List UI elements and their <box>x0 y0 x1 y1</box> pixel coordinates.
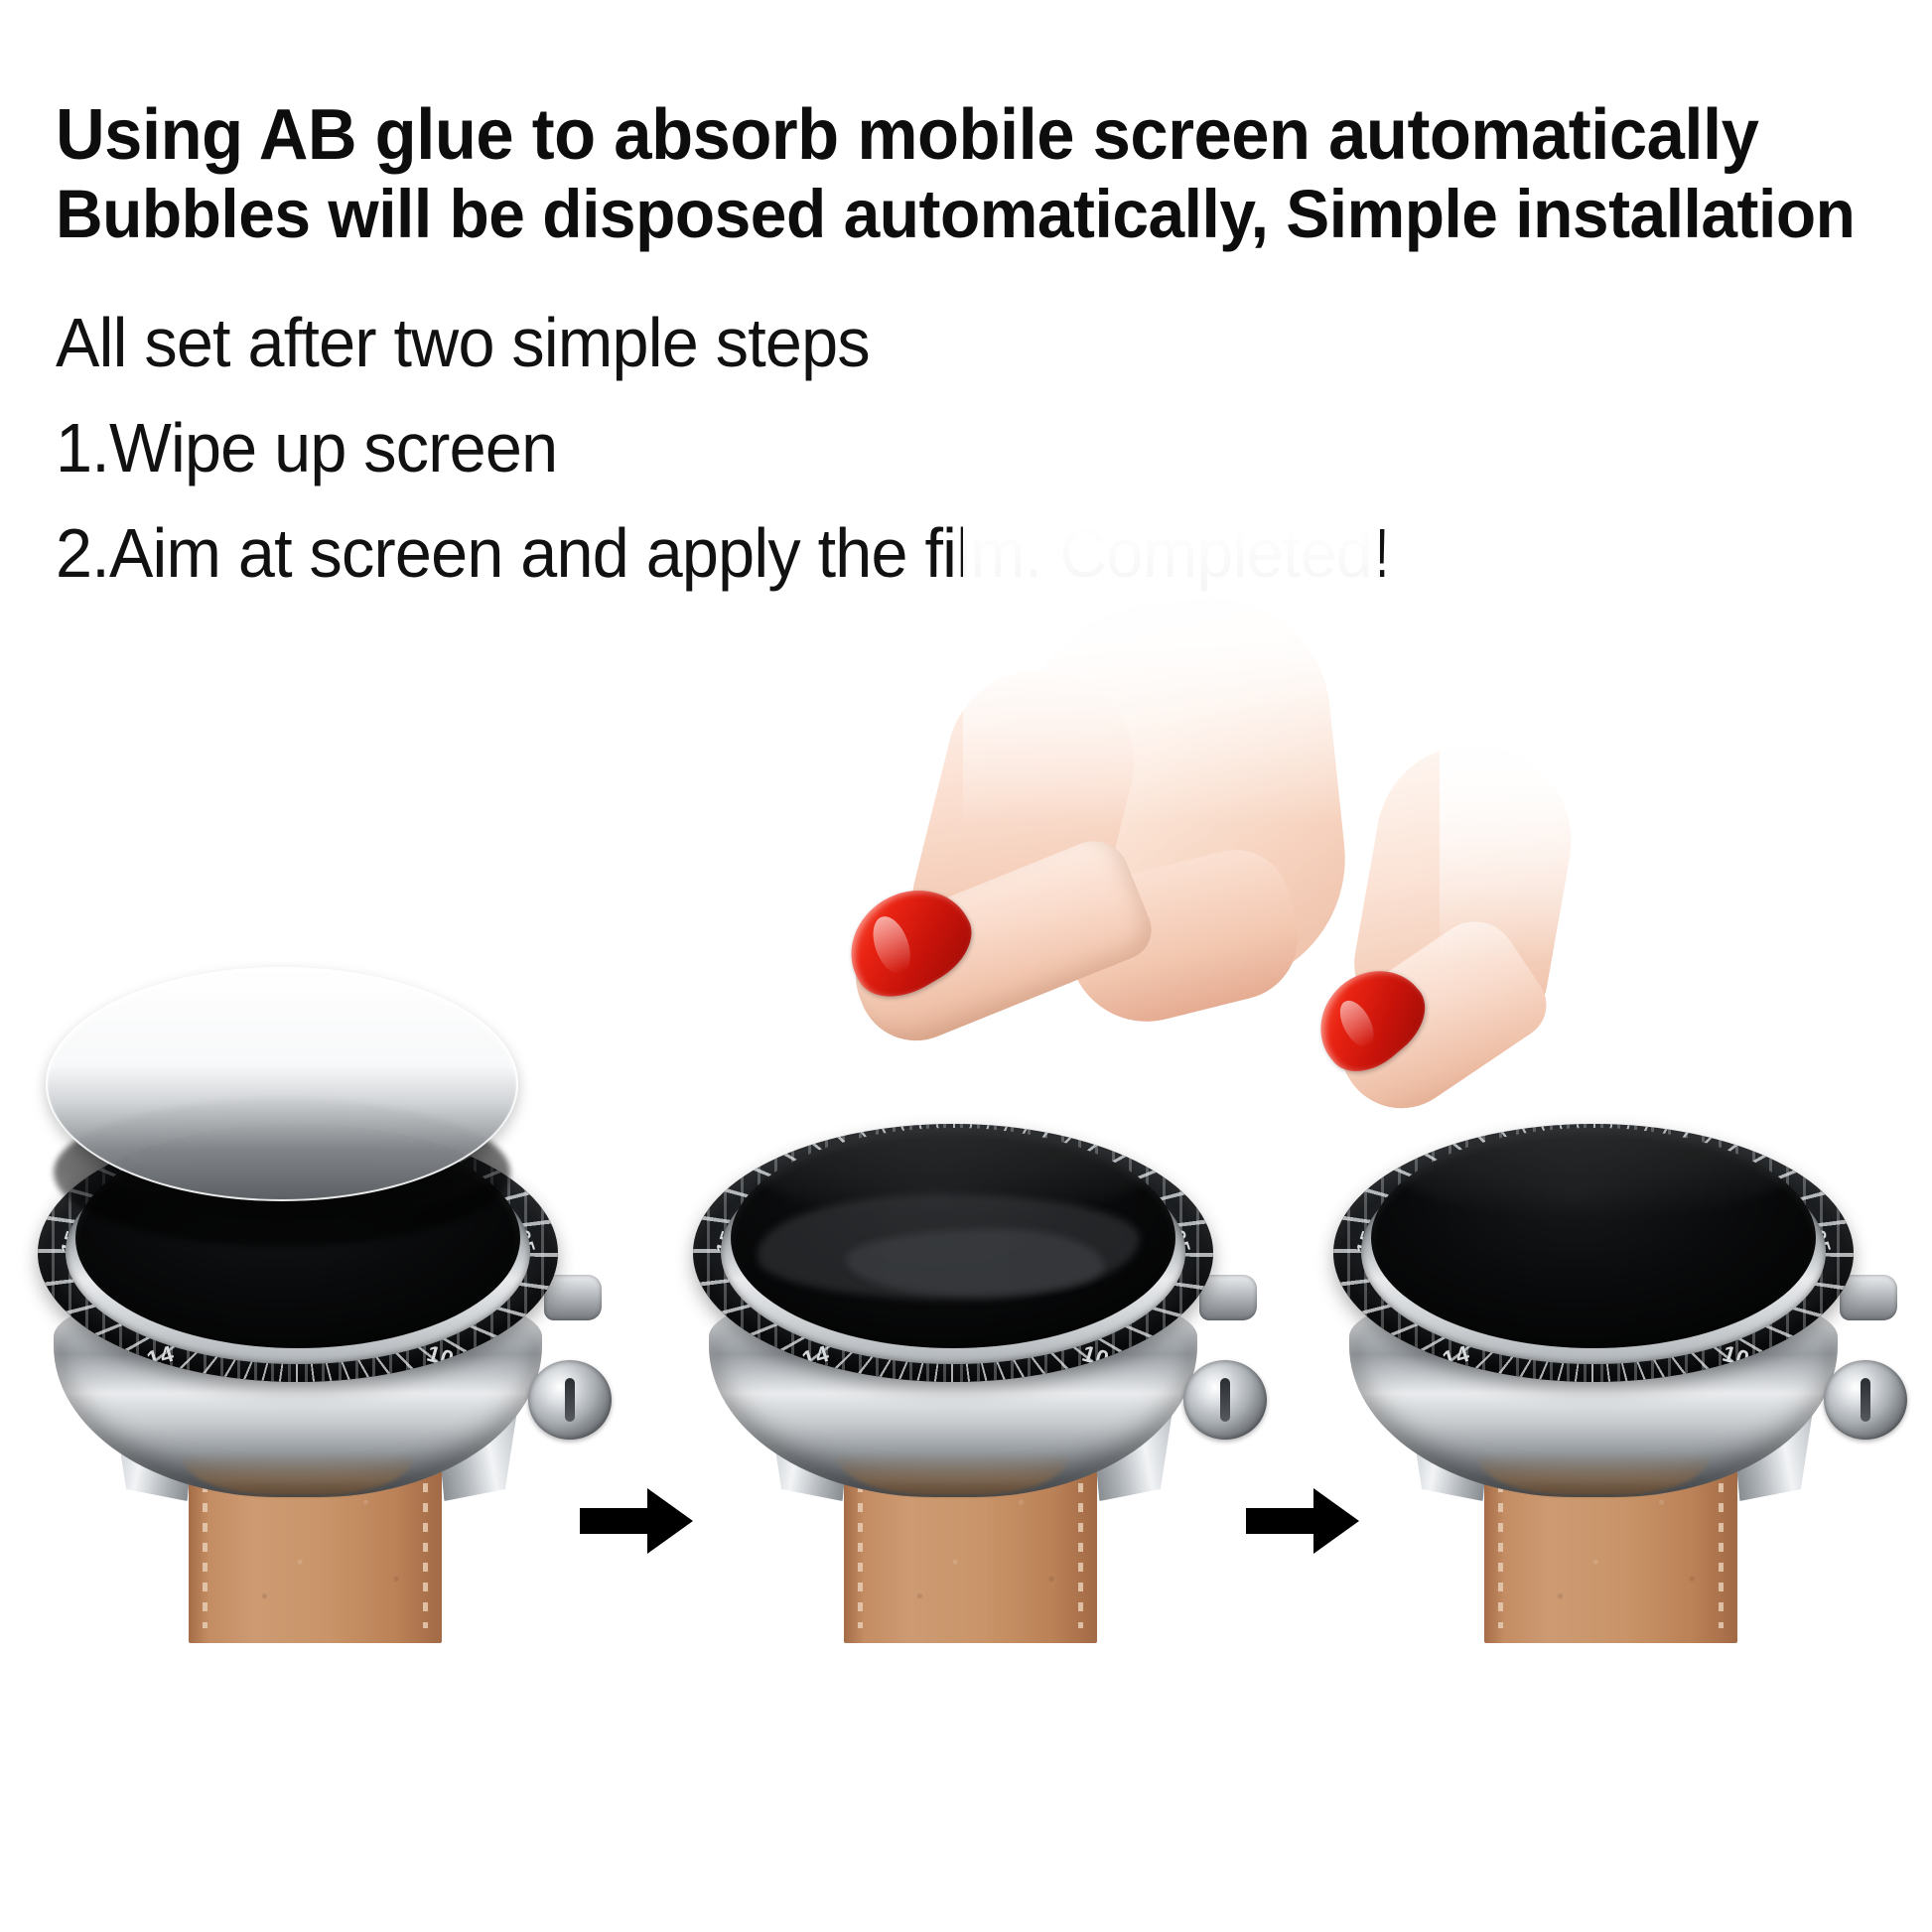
diagram-step-3: 12 15 05 14 10 <box>1306 1033 1921 1747</box>
watch-pusher <box>1199 1275 1257 1320</box>
watch-pusher <box>544 1275 602 1320</box>
headline-line-1: Using AB glue to absorb mobile screen au… <box>56 95 1810 176</box>
index-finger <box>837 830 1160 1057</box>
finger-upper-segment <box>1344 730 1586 1047</box>
thumb <box>1053 838 1311 1037</box>
hand-fade-overlay <box>1440 665 1857 963</box>
installation-diagram: 12 15 05 14 10 <box>0 1033 1932 1767</box>
text-block: Using AB glue to absorb mobile screen au… <box>56 95 1892 623</box>
screen-glare <box>1398 1128 1789 1220</box>
instruction-intro: All set after two simple steps <box>56 308 1801 377</box>
watch-screen <box>1371 1128 1816 1348</box>
smartwatch-illustration-3: 12 15 05 14 10 <box>1306 1033 1921 1747</box>
finger-middle-segment <box>900 651 1154 986</box>
diagram-step-2: 12 15 05 14 10 <box>665 1033 1281 1747</box>
watch-crown <box>528 1360 612 1440</box>
screen-protector-film <box>46 967 518 1201</box>
film-edge <box>46 967 518 1201</box>
fingernail-red <box>830 869 986 1014</box>
instruction-list: All set after two simple steps 1.Wipe up… <box>56 308 1892 588</box>
instruction-step-1: 1.Wipe up screen <box>56 413 1801 483</box>
watch-crown <box>1824 1360 1907 1440</box>
glue-bubble-pattern-secondary <box>846 1229 1104 1296</box>
watch-pusher <box>1840 1275 1897 1320</box>
diagram-step-1: 12 15 05 14 10 <box>10 1033 625 1747</box>
instruction-step-2: 2.Aim at screen and apply the film. Comp… <box>56 518 1801 588</box>
arrow-right-icon-1 <box>578 1484 695 1558</box>
infographic-page: Using AB glue to absorb mobile screen au… <box>0 0 1932 1932</box>
arrow-right-icon-2 <box>1244 1484 1361 1558</box>
headline-line-2: Bubbles will be disposed automatically, … <box>56 176 1810 252</box>
smartwatch-illustration-1: 12 15 05 14 10 <box>10 1033 625 1747</box>
smartwatch-illustration-2: 12 15 05 14 10 <box>665 1033 1281 1747</box>
watch-crown <box>1183 1360 1267 1440</box>
watch-screen <box>731 1128 1175 1348</box>
hand-back <box>1003 586 1357 1006</box>
